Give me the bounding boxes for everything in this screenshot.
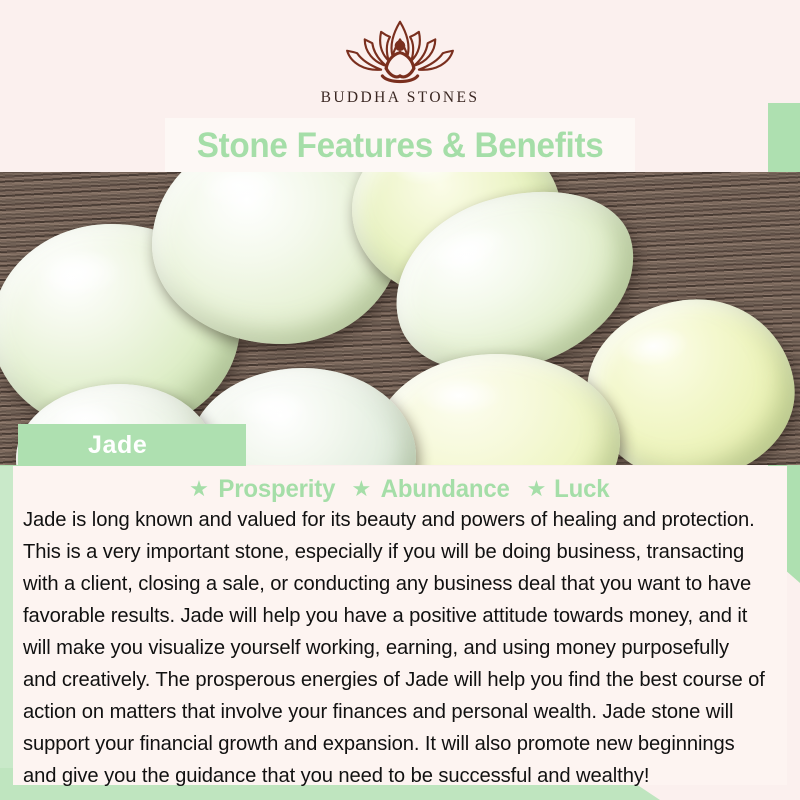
stone-name-label: Jade (18, 424, 246, 466)
benefit-label: Luck (554, 475, 609, 504)
stone-name-text: Jade (88, 431, 147, 460)
benefits-list: ★ Prosperity ★ Abundance ★ Luck (13, 466, 787, 502)
benefit-label: Prosperity (218, 475, 335, 504)
benefit-item: ★ Abundance (352, 475, 513, 504)
brand-header: BUDDHA STONES (0, 0, 800, 120)
benefit-item: ★ Prosperity (189, 475, 337, 504)
page-title: Stone Features & Benefits (197, 126, 604, 166)
title-band: Stone Features & Benefits (165, 118, 635, 174)
benefit-item: ★ Luck (527, 475, 611, 504)
lotus-meditation-icon (337, 18, 463, 86)
stone-description: Jade is long known and valued for its be… (23, 504, 766, 792)
benefit-label: Abundance (381, 475, 510, 504)
jade-stones-photo (0, 172, 800, 465)
brand-wordmark: BUDDHA STONES (321, 89, 480, 107)
content-panel: ★ Prosperity ★ Abundance ★ Luck Jade is … (13, 466, 787, 785)
decor-green-left-edge (0, 466, 13, 800)
star-icon: ★ (352, 478, 372, 500)
stone-features-infographic: BUDDHA STONES Stone Features & Benefits … (0, 0, 800, 800)
star-icon: ★ (527, 478, 547, 500)
star-icon: ★ (189, 478, 209, 500)
